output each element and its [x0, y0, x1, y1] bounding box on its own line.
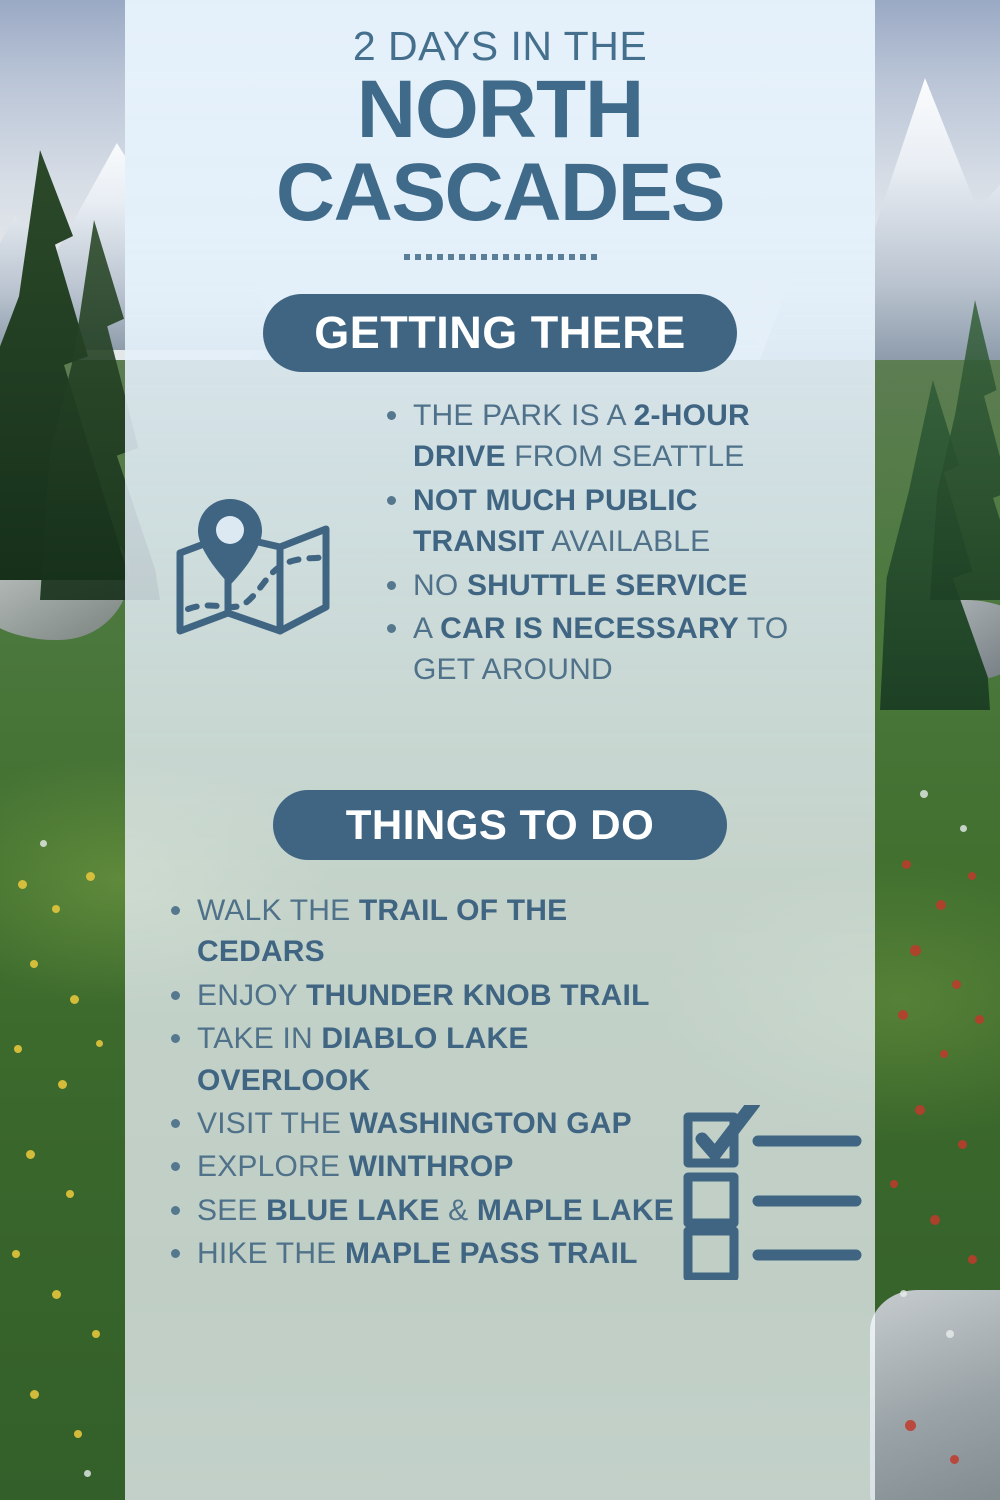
wildflower: [52, 1290, 61, 1299]
divider-dot: [426, 254, 432, 260]
list-item: WALK THE TRAIL OF THE CEDARS: [167, 890, 677, 973]
list-item-text: VISIT THE: [197, 1107, 350, 1140]
list-item-text: AVAILABLE: [544, 525, 710, 558]
list-item: EXPLORE WINTHROP: [167, 1146, 677, 1187]
wildflower: [74, 1430, 82, 1438]
content-card: 2 DAYS IN THE NORTH CASCADES GETTING THE…: [125, 0, 875, 1500]
divider-dot: [459, 254, 465, 260]
wildflower: [86, 872, 95, 881]
infographic-canvas: 2 DAYS IN THE NORTH CASCADES GETTING THE…: [0, 0, 1000, 1500]
wildflower: [910, 945, 921, 956]
list-item-highlight: WASHINGTON GAP: [350, 1107, 632, 1140]
wildflower: [898, 1010, 908, 1020]
checklist-icon: [680, 1105, 875, 1280]
divider-dot: [448, 254, 454, 260]
list-item-text: EXPLORE: [197, 1150, 349, 1183]
divider-dot: [547, 254, 553, 260]
divider-dot: [437, 254, 443, 260]
things-to-do-list: WALK THE TRAIL OF THE CEDARSENJOY THUNDE…: [167, 890, 677, 1277]
list-item-text: NO: [413, 569, 467, 602]
divider-dot: [492, 254, 498, 260]
wildflower: [900, 1290, 907, 1297]
wildflower: [26, 1150, 35, 1159]
page-title: 2 DAYS IN THE NORTH CASCADES: [125, 0, 875, 260]
wildflower: [30, 960, 38, 968]
wildflower: [52, 905, 60, 913]
wildflower: [84, 1470, 91, 1477]
wildflower: [920, 790, 928, 798]
divider-dot: [558, 254, 564, 260]
wildflower: [92, 1330, 100, 1338]
list-item: A CAR IS NECESSARY TO GET AROUND: [383, 608, 823, 691]
wildflower: [950, 1455, 959, 1464]
list-item: SEE BLUE LAKE & MAPLE LAKE: [167, 1190, 677, 1231]
wildflower: [30, 1390, 39, 1399]
list-item-text: A: [413, 612, 440, 645]
list-item-highlight: BLUE LAKE: [266, 1194, 439, 1227]
title-line-2: CASCADES: [125, 154, 875, 233]
list-item-text: ENJOY: [197, 979, 306, 1012]
wildflower: [66, 1190, 74, 1198]
wildflower: [936, 900, 946, 910]
map-pin-icon: [170, 495, 335, 645]
wildflower: [70, 995, 79, 1004]
list-item: TAKE IN DIABLO LAKE OVERLOOK: [167, 1018, 677, 1101]
list-item: HIKE THE MAPLE PASS TRAIL: [167, 1233, 677, 1274]
list-item-text: HIKE THE: [197, 1237, 345, 1270]
list-item: NO SHUTTLE SERVICE: [383, 565, 823, 606]
dotted-divider: [125, 254, 875, 260]
wildflower: [930, 1215, 940, 1225]
divider-dot: [503, 254, 509, 260]
title-line-1: NORTH: [125, 71, 875, 150]
section-badge-getting-there[interactable]: GETTING THERE: [263, 294, 737, 372]
divider-dot: [591, 254, 597, 260]
wildflower: [975, 1015, 984, 1024]
boulder-right-lower: [870, 1290, 1000, 1500]
wildflower: [968, 1255, 977, 1264]
list-item: THE PARK IS A 2-HOUR DRIVE FROM SEATTLE: [383, 395, 823, 478]
wildflower: [952, 980, 961, 989]
list-item-text: THE PARK IS A: [413, 399, 634, 432]
list-item: VISIT THE WASHINGTON GAP: [167, 1103, 677, 1144]
title-eyebrow: 2 DAYS IN THE: [125, 26, 875, 67]
list-item-text: &: [440, 1194, 477, 1227]
list-item-highlight: WINTHROP: [349, 1150, 514, 1183]
wildflower: [905, 1420, 916, 1431]
wildflower: [40, 840, 47, 847]
divider-dot: [580, 254, 586, 260]
list-item-text: SEE: [197, 1194, 266, 1227]
list-item-highlight: MAPLE LAKE: [477, 1194, 674, 1227]
wildflower: [968, 872, 976, 880]
divider-dot: [481, 254, 487, 260]
divider-dot: [536, 254, 542, 260]
list-item-highlight: THUNDER KNOB TRAIL: [306, 979, 650, 1012]
wildflower: [940, 1050, 948, 1058]
list-item-highlight: CAR IS NECESSARY: [440, 612, 739, 645]
wildflower: [960, 825, 967, 832]
divider-dot: [415, 254, 421, 260]
list-item-highlight: SHUTTLE SERVICE: [467, 569, 748, 602]
wildflower: [958, 1140, 967, 1149]
list-item-text: FROM SEATTLE: [506, 440, 745, 473]
wildflower: [915, 1105, 925, 1115]
list-item-highlight: MAPLE PASS TRAIL: [345, 1237, 638, 1270]
getting-there-list: THE PARK IS A 2-HOUR DRIVE FROM SEATTLEN…: [383, 395, 823, 693]
list-item-text: WALK THE: [197, 894, 359, 927]
divider-dot: [525, 254, 531, 260]
wildflower: [12, 1250, 20, 1258]
divider-dot: [404, 254, 410, 260]
wildflower: [96, 1040, 103, 1047]
divider-dot: [514, 254, 520, 260]
divider-dot: [470, 254, 476, 260]
divider-dot: [569, 254, 575, 260]
section-badge-things-to-do[interactable]: THINGS TO DO: [273, 790, 727, 860]
wildflower: [890, 1180, 898, 1188]
list-item-text: TAKE IN: [197, 1022, 321, 1055]
wildflower: [14, 1045, 22, 1053]
wildflower: [58, 1080, 67, 1089]
list-item: ENJOY THUNDER KNOB TRAIL: [167, 975, 677, 1016]
wildflower: [902, 860, 911, 869]
list-item: NOT MUCH PUBLIC TRANSIT AVAILABLE: [383, 480, 823, 563]
wildflower: [18, 880, 27, 889]
wildflower: [946, 1330, 954, 1338]
